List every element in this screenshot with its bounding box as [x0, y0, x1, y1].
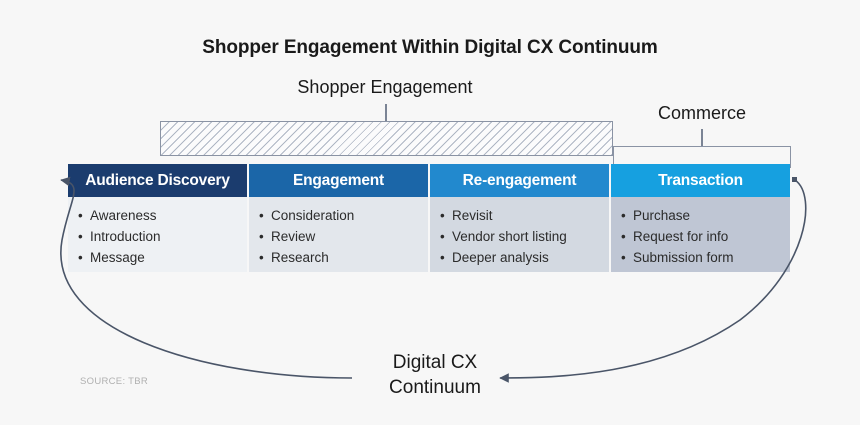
list-item-label: Request for info [633, 226, 728, 247]
bullet-icon: • [621, 226, 633, 247]
list-item-label: Review [271, 226, 315, 247]
bullet-icon: • [259, 247, 271, 268]
bracket-label-commerce: Commerce [612, 103, 792, 124]
list-item: • Deeper analysis [440, 247, 609, 268]
stage-column-transaction[interactable]: Transaction • Purchase • Request for inf… [611, 164, 790, 272]
list-item: • Consideration [259, 205, 428, 226]
list-item-label: Awareness [90, 205, 157, 226]
bullet-icon: • [440, 247, 452, 268]
stage-header-transaction: Transaction [611, 164, 790, 197]
bullet-icon: • [78, 205, 90, 226]
list-item: • Vendor short listing [440, 226, 609, 247]
list-item: • Purchase [621, 205, 790, 226]
list-item-label: Submission form [633, 247, 734, 268]
bullet-icon: • [621, 205, 633, 226]
list-item: • Submission form [621, 247, 790, 268]
bullet-icon: • [259, 226, 271, 247]
stage-body-engagement: • Consideration • Review • Research [249, 197, 428, 272]
diagram-canvas: Shopper Engagement Within Digital CX Con… [0, 0, 860, 425]
bullet-icon: • [78, 247, 90, 268]
stage-column-audience-discovery[interactable]: Audience Discovery • Awareness • Introdu… [68, 164, 247, 272]
stage-body-audience-discovery: • Awareness • Introduction • Message [68, 197, 247, 272]
stage-header-engagement: Engagement [249, 164, 428, 197]
page-title: Shopper Engagement Within Digital CX Con… [0, 37, 860, 59]
stage-header-re-engagement: Re-engagement [430, 164, 609, 197]
bullet-icon: • [78, 226, 90, 247]
continuum-label-line2: Continuum [355, 375, 515, 400]
stage-body-transaction: • Purchase • Request for info • Submissi… [611, 197, 790, 272]
bullet-icon: • [440, 226, 452, 247]
bracket-label-shopper-engagement: Shopper Engagement [200, 77, 570, 98]
bracket-tick-shopper-engagement [385, 104, 387, 121]
list-item-label: Revisit [452, 205, 493, 226]
list-item-label: Introduction [90, 226, 161, 247]
list-item-label: Deeper analysis [452, 247, 549, 268]
arrow-right-origin-marker [792, 177, 797, 182]
stage-table: Audience Discovery • Awareness • Introdu… [68, 164, 790, 272]
list-item-label: Vendor short listing [452, 226, 567, 247]
bracket-tick-commerce [701, 129, 703, 146]
stage-column-engagement[interactable]: Engagement • Consideration • Review • Re… [249, 164, 428, 272]
continuum-label: Digital CX Continuum [355, 350, 515, 400]
continuum-label-line1: Digital CX [355, 350, 515, 375]
list-item: • Message [78, 247, 247, 268]
hatched-span-shopper-engagement [160, 121, 613, 156]
list-item: • Review [259, 226, 428, 247]
list-item-label: Message [90, 247, 145, 268]
list-item-label: Consideration [271, 205, 354, 226]
stage-header-audience-discovery: Audience Discovery [68, 164, 247, 197]
list-item: • Awareness [78, 205, 247, 226]
source-note: SOURCE: TBR [80, 376, 148, 387]
bullet-icon: • [440, 205, 452, 226]
list-item-label: Purchase [633, 205, 690, 226]
list-item: • Request for info [621, 226, 790, 247]
stage-column-re-engagement[interactable]: Re-engagement • Revisit • Vendor short l… [430, 164, 609, 272]
list-item: • Introduction [78, 226, 247, 247]
list-item: • Research [259, 247, 428, 268]
list-item-label: Research [271, 247, 329, 268]
list-item: • Revisit [440, 205, 609, 226]
bullet-icon: • [621, 247, 633, 268]
stage-body-re-engagement: • Revisit • Vendor short listing • Deepe… [430, 197, 609, 272]
bullet-icon: • [259, 205, 271, 226]
